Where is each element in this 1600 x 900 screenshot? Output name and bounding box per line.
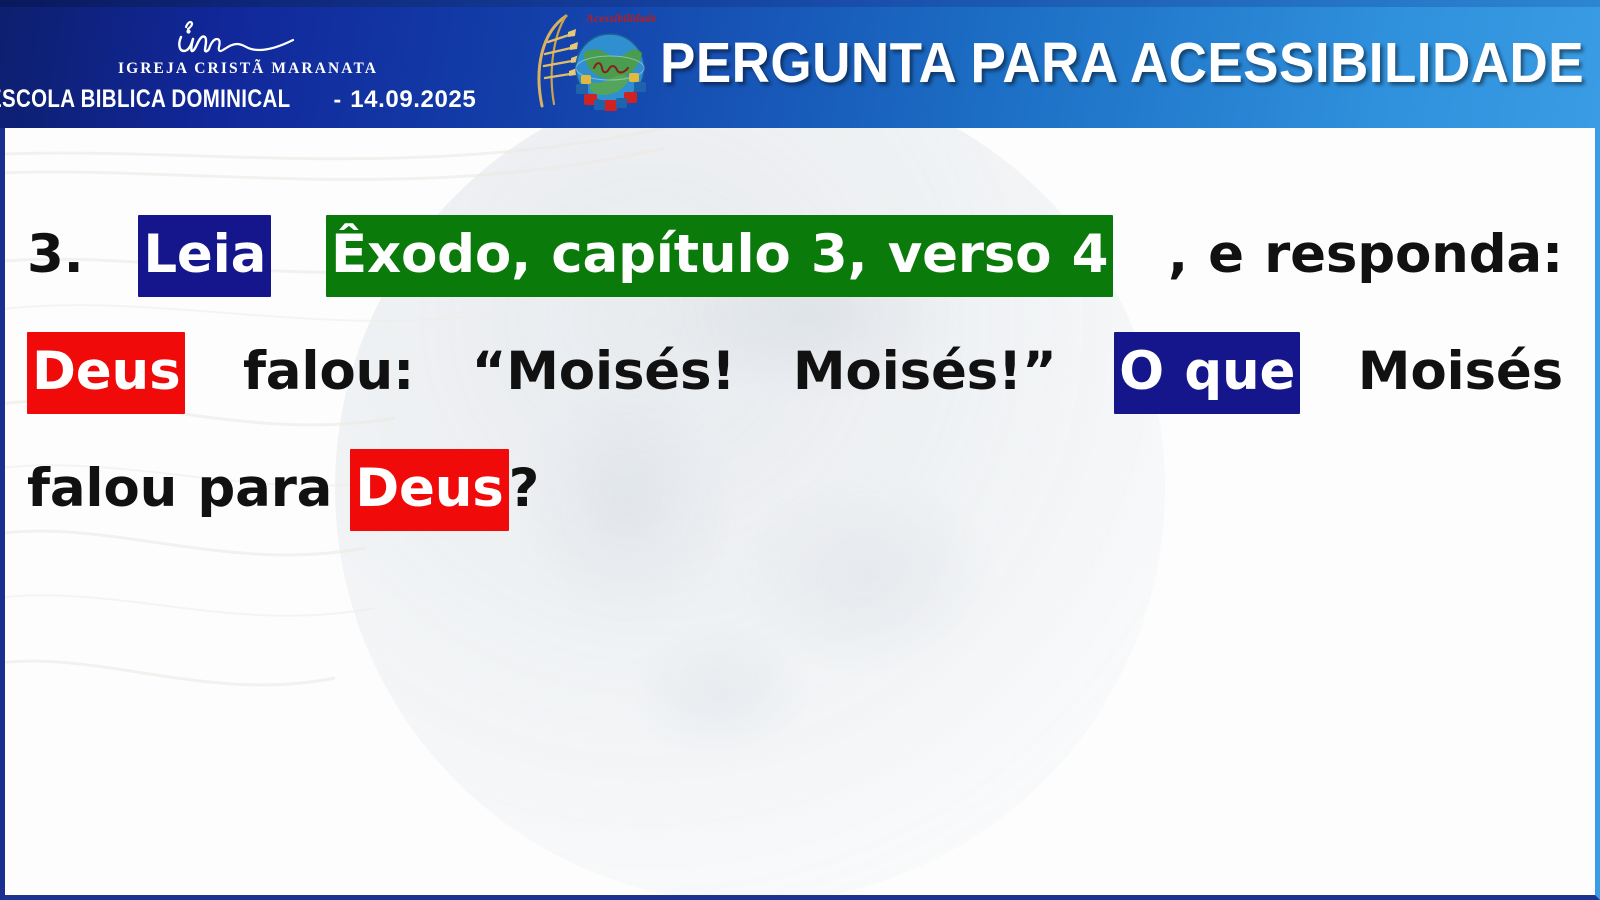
slide-content: 3. Leia Êxodo, capítulo 3, verso 4 , e r… <box>0 128 1600 900</box>
question-quote-moises-1: “Moisés! <box>472 313 736 430</box>
question-number: 3. <box>27 196 84 313</box>
highlight-reference: Êxodo, capítulo 3, verso 4 <box>326 215 1113 297</box>
ebd-date-line: ESCOLA BIBLICA DOMINICAL - 14.09.2025 <box>38 85 458 114</box>
question-line-2: Deus falou: “Moisés! Moisés!” O que Mois… <box>27 313 1563 430</box>
question-line-3: falou paraDeus? <box>27 430 1563 547</box>
question-word-falou: falou: <box>243 313 414 430</box>
slide: IGREJA CRISTÃ MARANATA ESCOLA BIBLICA DO… <box>0 0 1600 900</box>
header-bar: IGREJA CRISTÃ MARANATA ESCOLA BIBLICA DO… <box>0 0 1600 128</box>
highlight-leia: Leia <box>138 215 271 297</box>
ebd-date: 14.09.2025 <box>350 86 476 114</box>
page-title: PERGUNTA PARA ACESSIBILIDADE <box>660 30 1584 96</box>
question-line-1: 3. Leia Êxodo, capítulo 3, verso 4 , e r… <box>27 196 1563 313</box>
highlight-o-que: O que <box>1114 332 1300 414</box>
icm-logo-block: IGREJA CRISTÃ MARANATA ESCOLA BIBLICA DO… <box>38 18 458 114</box>
accessibility-globe-emblem-icon: Acessibilidade <box>524 8 660 124</box>
emblem-script-text: Acessibilidade <box>585 11 657 25</box>
highlight-deus-1: Deus <box>27 332 185 414</box>
icm-script-logo-icon <box>148 18 348 64</box>
question-line-1-tail: , e responda: <box>1168 196 1563 313</box>
question-text: 3. Leia Êxodo, capítulo 3, verso 4 , e r… <box>27 196 1563 547</box>
question-mark: ? <box>509 458 540 519</box>
question-quote-moises-2: Moisés!” <box>793 313 1057 430</box>
ebd-label: ESCOLA BIBLICA DOMINICAL <box>0 85 290 114</box>
question-word-moises: Moisés <box>1358 313 1563 430</box>
highlight-deus-2: Deus <box>350 449 508 531</box>
question-line-3-head: falou para <box>27 458 332 519</box>
ebd-dash: - <box>334 86 342 113</box>
